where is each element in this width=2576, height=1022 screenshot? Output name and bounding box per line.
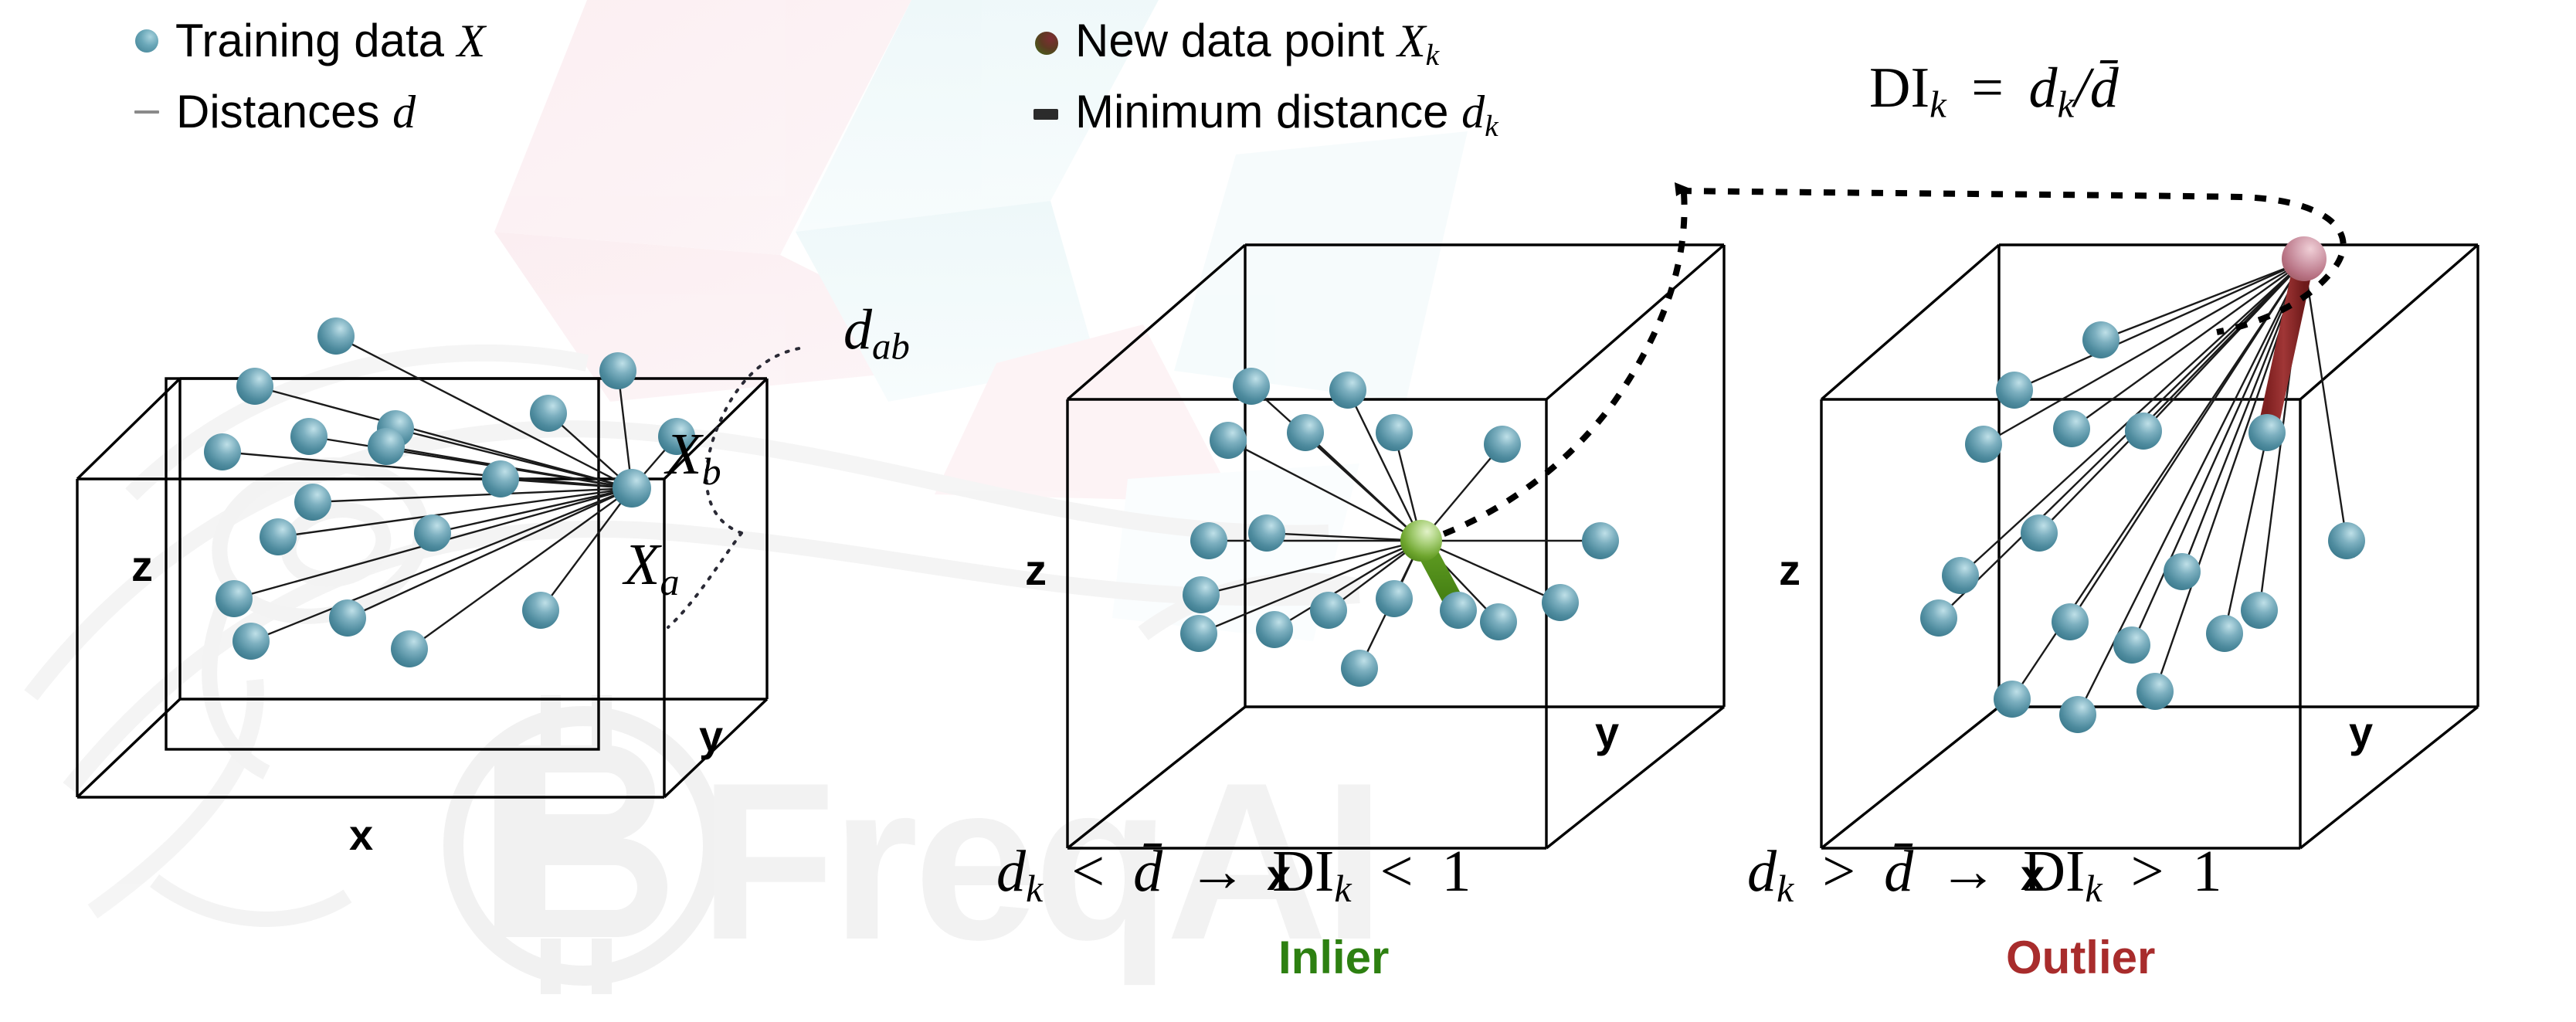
panel-inlier-cube [1067, 245, 1724, 848]
verdict-inlier: Inlier [1278, 931, 1389, 984]
training-spheres-panel3 [1920, 321, 2365, 733]
panel2-axis-label-z: z [1025, 545, 1047, 595]
panel3-axis-label-z: z [1779, 545, 1800, 595]
new-data-point-inlier [1400, 520, 1442, 562]
caption-outlier-formula: dk > d̄ → DIk > 1 [1747, 838, 2221, 911]
panel1-axis-label-x: x [349, 810, 373, 860]
callout-label-d-ab: dab [843, 297, 910, 368]
panel1-axis-label-z: z [131, 541, 153, 591]
panel2-axis-label-y: y [1595, 707, 1619, 757]
training-spheres-panel1 [204, 317, 695, 667]
verdict-outlier: Outlier [2006, 931, 2155, 984]
panel3-axis-label-y: y [2349, 707, 2373, 757]
panel-outlier-cube [1821, 236, 2478, 848]
caption-inlier-formula: dk < d̄ → DIk < 1 [996, 838, 1471, 911]
new-data-point-outlier [2282, 236, 2327, 281]
panel-training-cube [77, 317, 803, 850]
panel1-axis-label-y: y [699, 711, 723, 761]
point-label-x-a: Xa [624, 531, 680, 604]
point-label-x-b: Xb [666, 421, 721, 494]
sphere-x-a [613, 469, 651, 508]
